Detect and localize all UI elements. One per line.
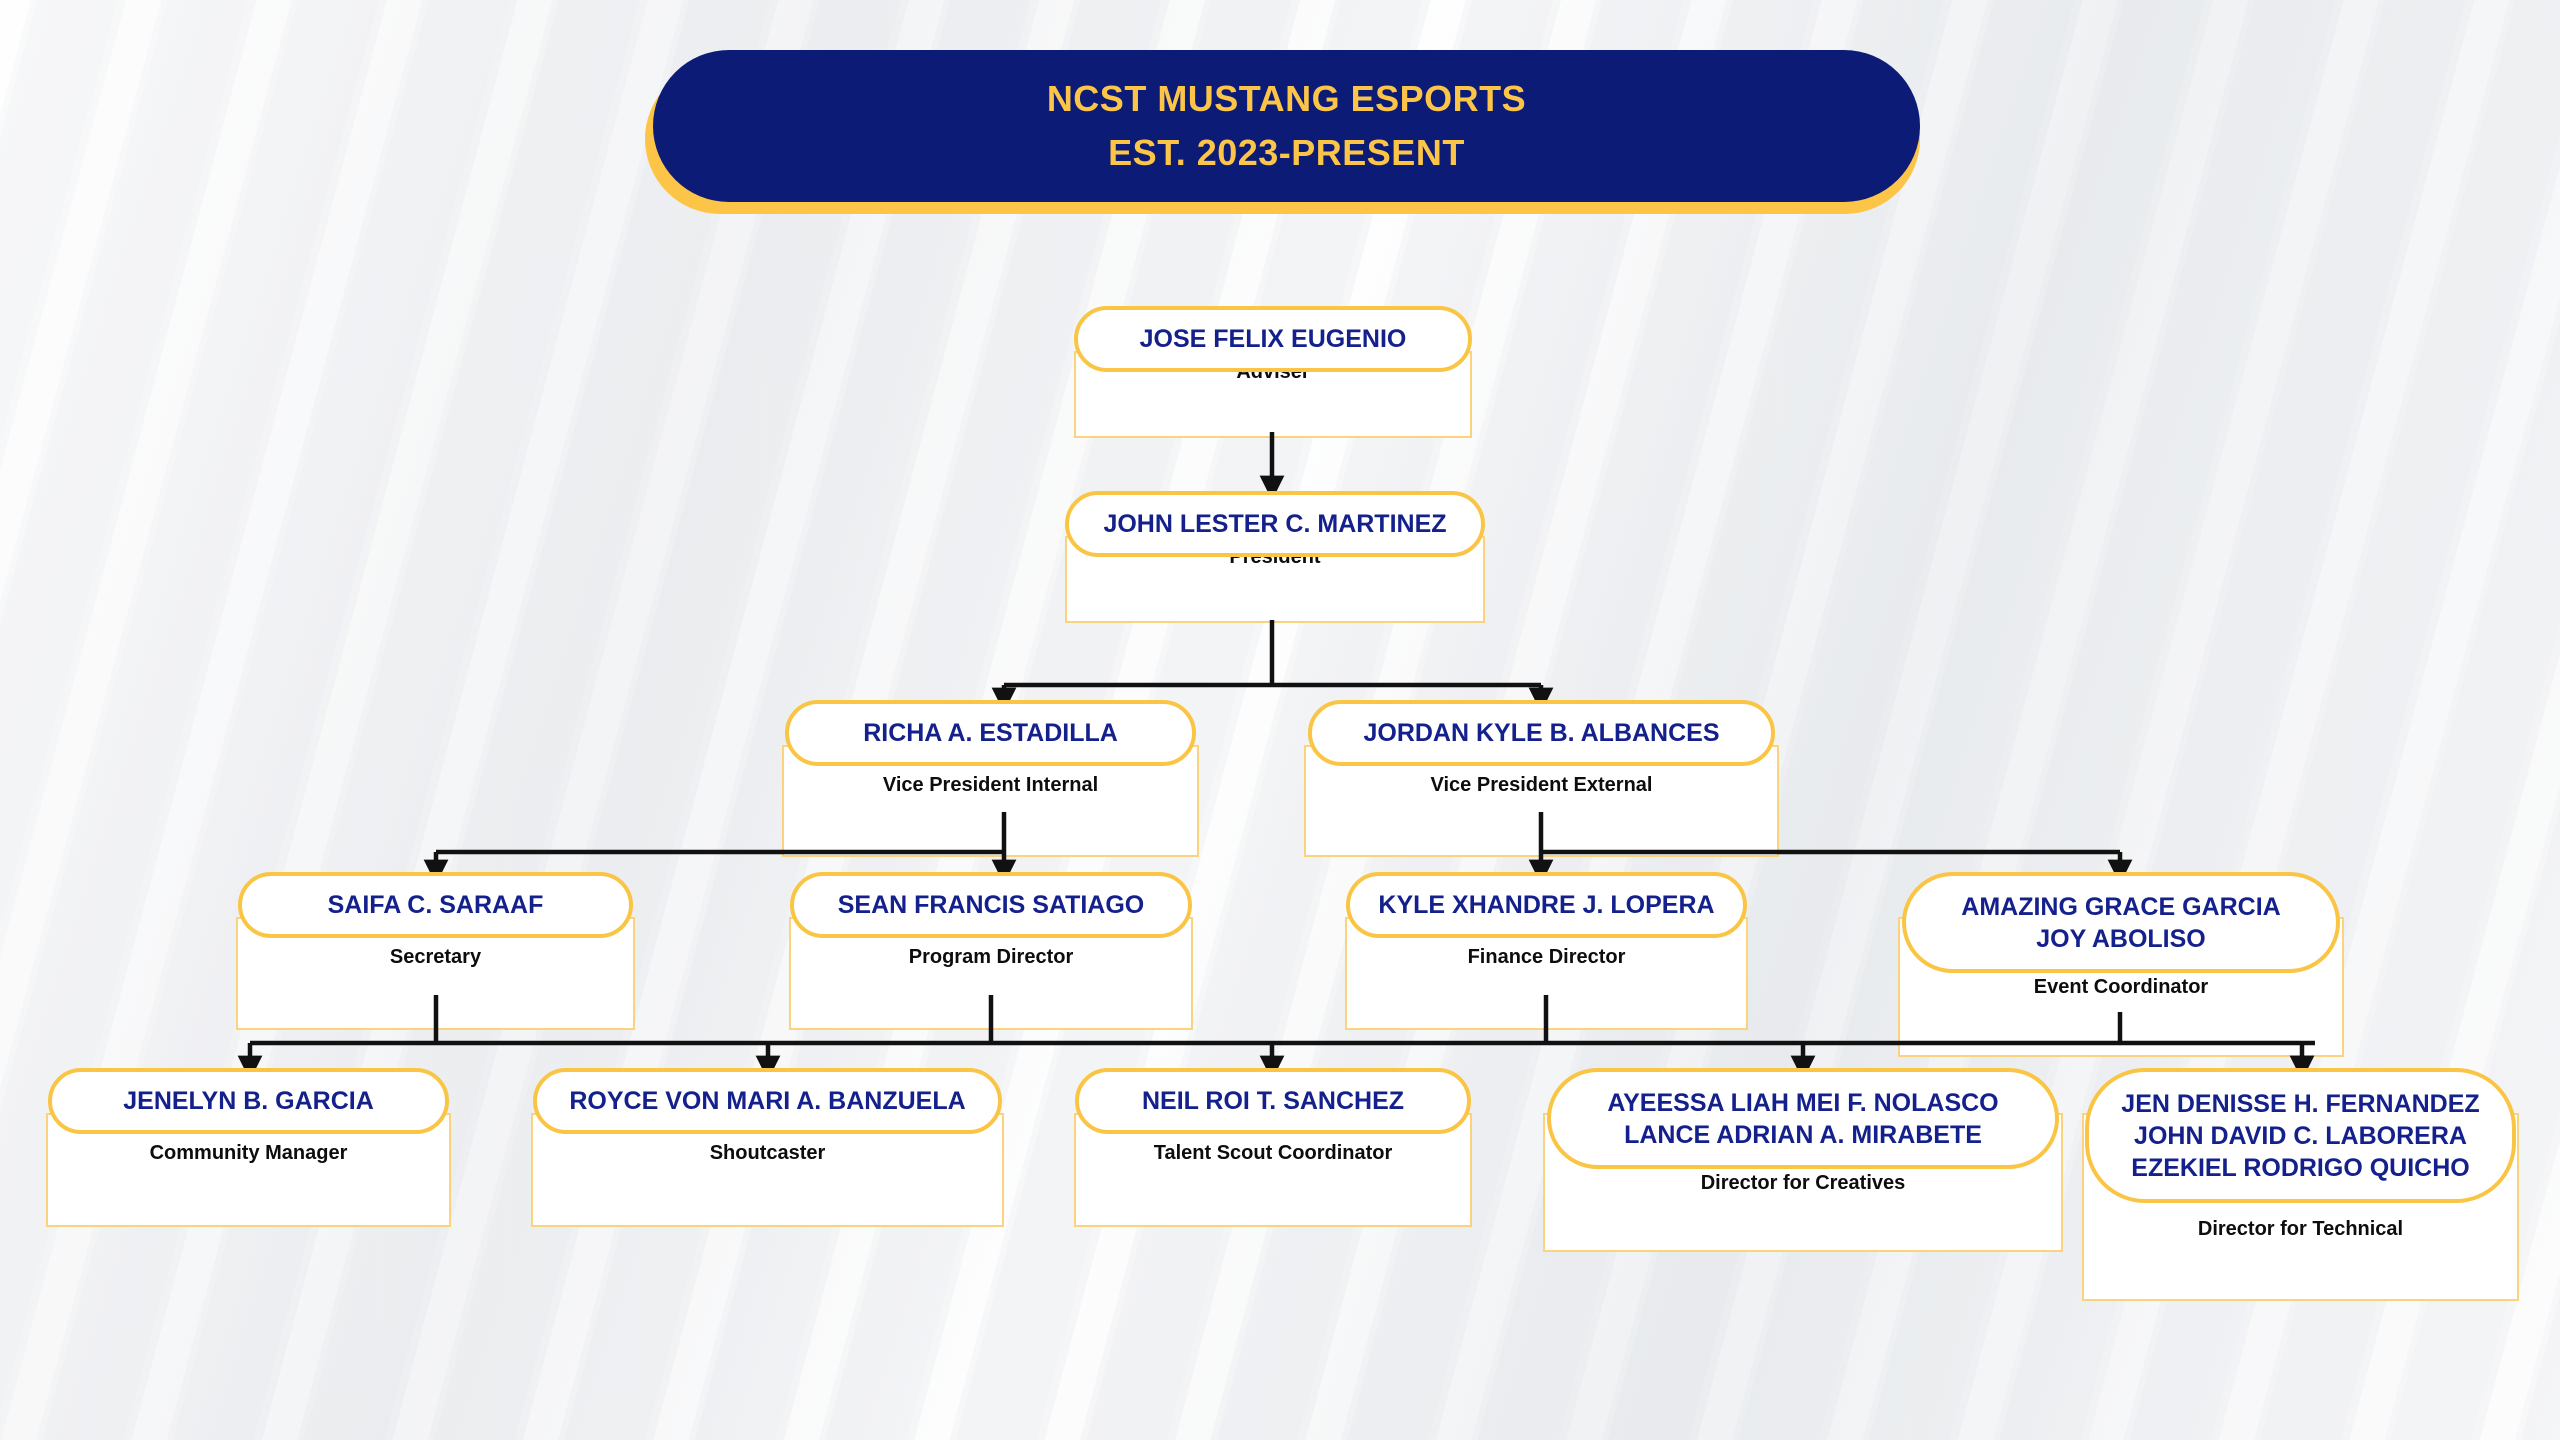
name-pill-talent-scout-coordinator[interactable]: NEIL ROI T. SANCHEZ [1075, 1068, 1471, 1134]
name-line: JOSE FELIX EUGENIO [1140, 323, 1407, 355]
name-line: AMAZING GRACE GARCIA [1961, 891, 2280, 923]
name-line: AYEESSA LIAH MEI F. NOLASCO [1607, 1087, 1998, 1119]
name-pill-shoutcaster[interactable]: ROYCE VON MARI A. BANZUELA [533, 1068, 1002, 1134]
name-pill-president[interactable]: JOHN LESTER C. MARTINEZ [1065, 491, 1485, 557]
name-line: LANCE ADRIAN A. MIRABETE [1624, 1119, 1982, 1151]
name-line: EZEKIEL RODRIGO QUICHO [2131, 1152, 2469, 1184]
name-pill-director-creatives[interactable]: AYEESSA LIAH MEI F. NOLASCO LANCE ADRIAN… [1547, 1068, 2059, 1169]
name-line: JOHN DAVID C. LABORERA [2134, 1120, 2467, 1152]
name-pill-community-manager[interactable]: JENELYN B. GARCIA [48, 1068, 449, 1134]
name-line: KYLE XHANDRE J. LOPERA [1378, 889, 1714, 921]
name-line: ROYCE VON MARI A. BANZUELA [569, 1085, 965, 1117]
connector-lines [0, 0, 2560, 1440]
name-line: JENELYN B. GARCIA [123, 1085, 374, 1117]
name-line: NEIL ROI T. SANCHEZ [1142, 1085, 1404, 1117]
name-pill-director-technical[interactable]: JEN DENISSE H. FERNANDEZ JOHN DAVID C. L… [2085, 1068, 2516, 1203]
name-line: RICHA A. ESTADILLA [863, 717, 1118, 749]
name-pill-program-director[interactable]: SEAN FRANCIS SATIAGO [790, 872, 1192, 938]
name-line: JEN DENISSE H. FERNANDEZ [2121, 1088, 2479, 1120]
name-pill-adviser[interactable]: JOSE FELIX EUGENIO [1074, 306, 1472, 372]
name-pill-finance-director[interactable]: KYLE XHANDRE J. LOPERA [1346, 872, 1747, 938]
name-pill-vp-external[interactable]: JORDAN KYLE B. ALBANCES [1308, 700, 1775, 766]
name-line: JORDAN KYLE B. ALBANCES [1363, 717, 1719, 749]
name-pill-secretary[interactable]: SAIFA C. SARAAF [238, 872, 633, 938]
name-line: SEAN FRANCIS SATIAGO [838, 889, 1145, 921]
name-line: JOY ABOLISO [2036, 923, 2205, 955]
name-pill-vp-internal[interactable]: RICHA A. ESTADILLA [785, 700, 1196, 766]
name-pill-event-coordinator[interactable]: AMAZING GRACE GARCIA JOY ABOLISO [1902, 872, 2340, 973]
name-line: JOHN LESTER C. MARTINEZ [1103, 508, 1446, 540]
org-chart-canvas: NCST MUSTANG ESPORTS EST. 2023-PRESENT [0, 0, 2560, 1440]
name-line: SAIFA C. SARAAF [328, 889, 544, 921]
